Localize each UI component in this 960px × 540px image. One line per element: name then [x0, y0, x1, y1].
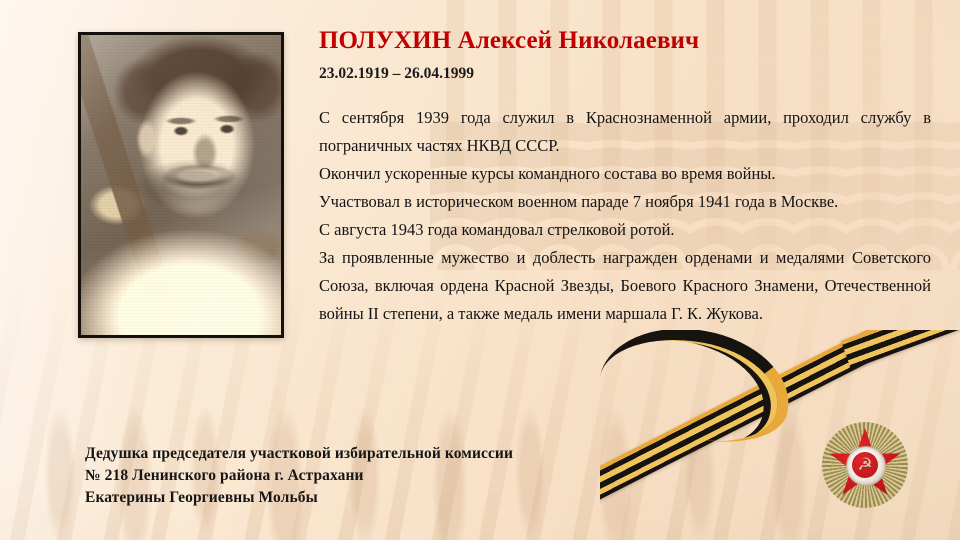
memorial-slide: ПОЛУХИН Алексей Николаевич 23.02.1919 – … — [0, 0, 960, 540]
page-title: ПОЛУХИН Алексей Николаевич — [319, 27, 699, 55]
relation-caption: Дедушка председателя участковой избирате… — [85, 443, 513, 509]
biography-paragraph-3: Участвовал в историческом военном параде… — [319, 188, 931, 216]
life-dates: 23.02.1919 – 26.04.1999 — [319, 65, 474, 83]
biography-paragraph-1: С сентября 1939 года служил в Краснознам… — [319, 104, 931, 160]
caption-line-3: Екатерины Георгиевны Мольбы — [85, 487, 513, 509]
hammer-and-sickle-icon: ☭ — [855, 455, 875, 475]
caption-line-2: № 218 Ленинского района г. Астрахани — [85, 465, 513, 487]
order-of-patriotic-war-icon: ☭ — [822, 422, 908, 508]
biography-paragraph-2: Окончил ускоренные курсы командного сост… — [319, 160, 931, 188]
biography-paragraph-4: С августа 1943 года командовал стрелково… — [319, 216, 931, 244]
biography-text: С сентября 1939 года служил в Краснознам… — [319, 104, 931, 328]
biography-paragraph-5: За проявленные мужество и доблесть награ… — [319, 244, 931, 328]
portrait-photo-gloss — [81, 35, 281, 335]
caption-line-1: Дедушка председателя участковой избирате… — [85, 443, 513, 465]
portrait-photo-frame — [78, 32, 284, 338]
